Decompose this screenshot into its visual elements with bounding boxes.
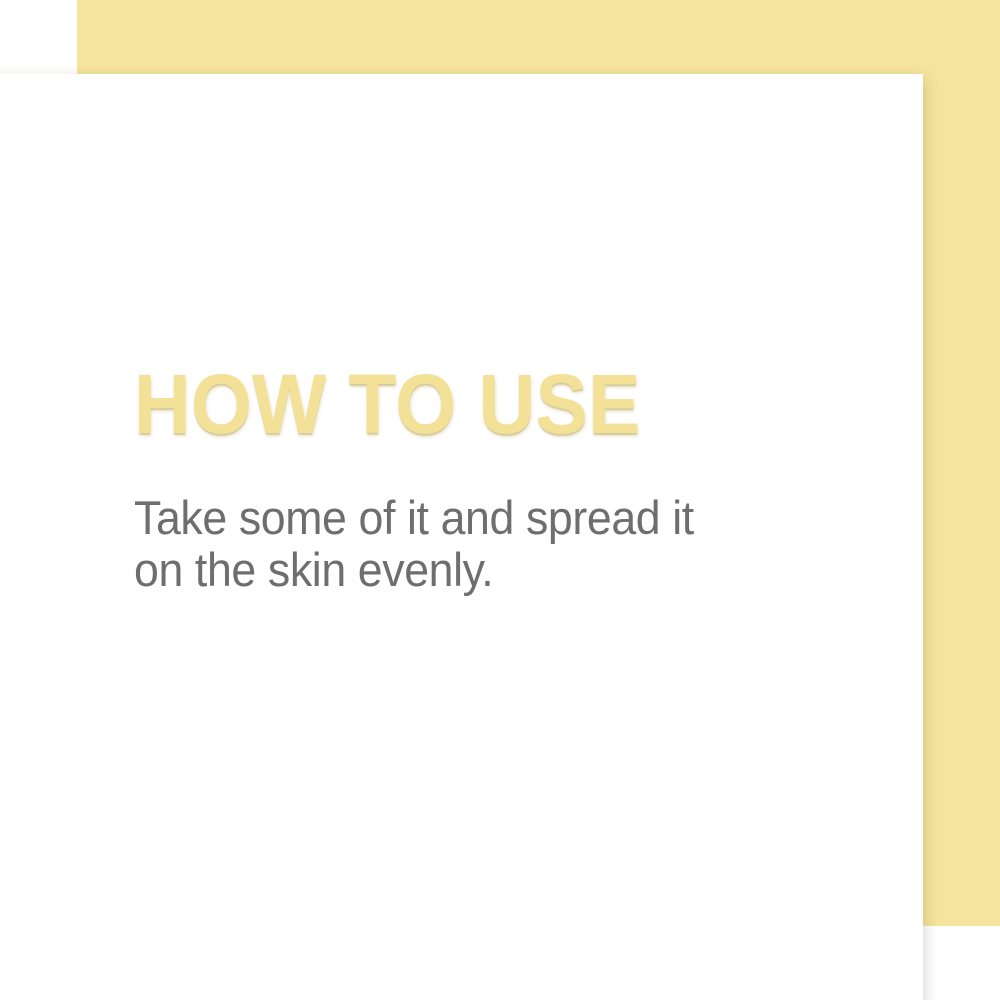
instruction-line-2: on the skin evenly. [134, 544, 799, 596]
text-content-group: HOW TO USE Take some of it and spread it… [134, 360, 834, 596]
slide-canvas: HOW TO USE Take some of it and spread it… [0, 0, 1000, 1000]
instruction-text: Take some of it and spread it on the ski… [134, 448, 799, 596]
instruction-line-1: Take some of it and spread it [134, 492, 799, 544]
page-title: HOW TO USE [134, 360, 785, 448]
